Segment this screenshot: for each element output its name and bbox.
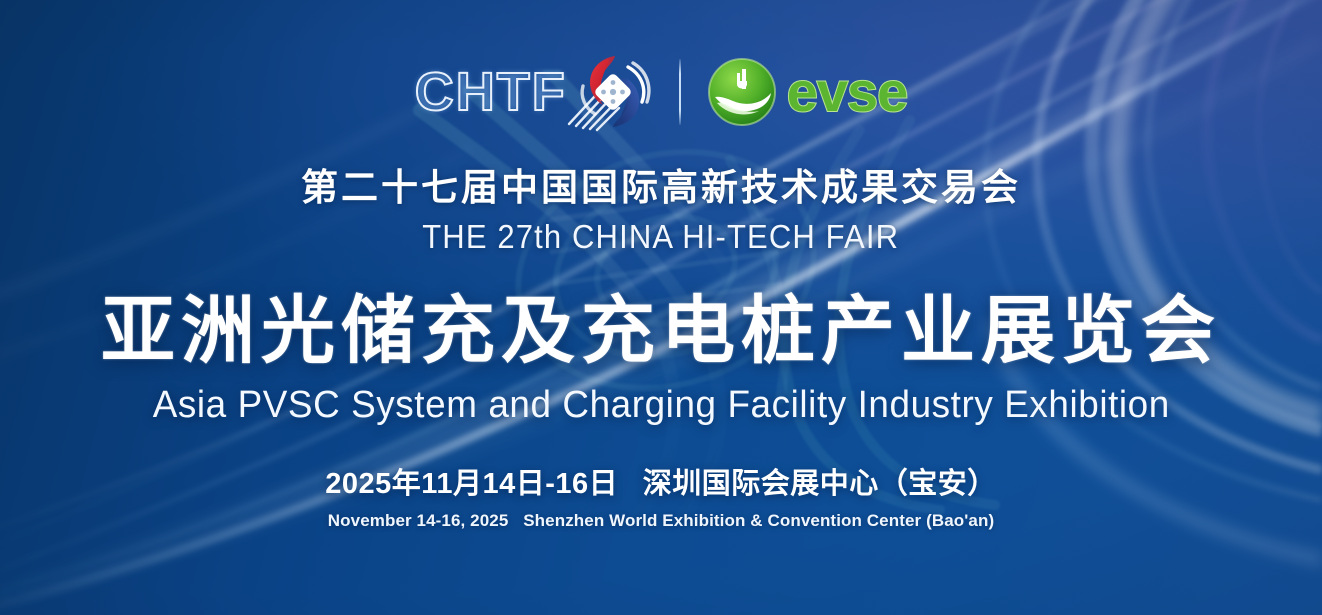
chtf-swirl-emblem-icon <box>565 52 653 132</box>
evse-logo: evse <box>707 57 908 127</box>
event-date-venue-en: November 14-16, 2025 Shenzhen World Exhi… <box>328 512 994 531</box>
event-date-en: November 14-16, 2025 <box>328 511 509 530</box>
evse-wordmark: evse <box>787 64 908 120</box>
chtf-logo: CHTF <box>415 52 653 132</box>
event-date-venue-cn: 2025年11月14日-16日 深圳国际会展中心（宝安） <box>325 469 996 501</box>
exhibition-title-cn: 亚洲光储充及充电桩产业展览会 <box>101 291 1221 371</box>
chtf-wordmark: CHTF <box>415 65 569 119</box>
event-date-cn: 2025年11月14日-16日 <box>325 468 618 500</box>
evse-globe-icon <box>707 57 777 127</box>
fair-name-cn: 第二十七届中国国际高新技术成果交易会 <box>301 168 1021 209</box>
logo-divider <box>679 59 681 125</box>
exhibition-banner: CHTF <box>0 0 1322 615</box>
exhibition-title-en: Asia PVSC System and Charging Facility I… <box>152 385 1169 427</box>
banner-content: CHTF <box>0 0 1322 615</box>
event-venue-en: Shenzhen World Exhibition & Convention C… <box>523 511 994 530</box>
fair-name-en: THE 27th CHINA HI-TECH FAIR <box>423 219 900 255</box>
event-venue-cn: 深圳国际会展中心（宝安） <box>643 468 997 500</box>
logo-row: CHTF <box>415 52 908 132</box>
